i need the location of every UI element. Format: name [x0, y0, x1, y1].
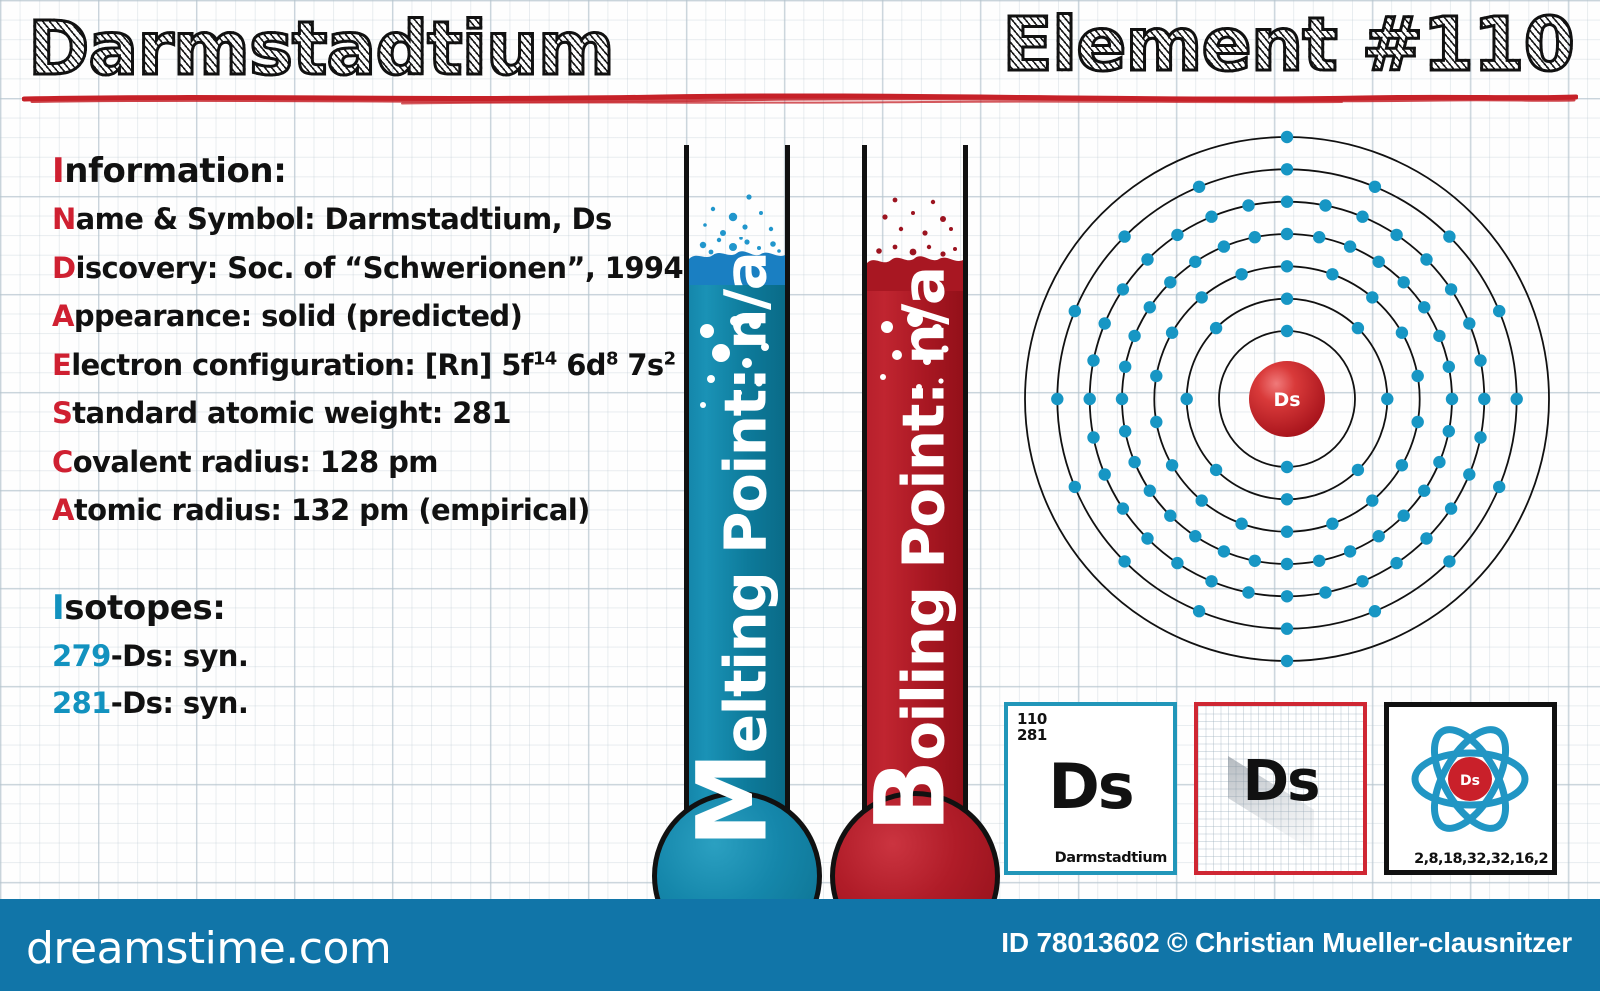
- electron: [1433, 330, 1445, 342]
- info-cap: A: [52, 493, 74, 527]
- electron: [1069, 481, 1081, 493]
- electron: [1326, 518, 1338, 530]
- info-line-atomic-weight: Standard atomic weight: 281: [52, 389, 692, 438]
- electron: [1128, 456, 1140, 468]
- information-heading-cap: I: [52, 151, 64, 191]
- isotope-mass-number: 279: [52, 639, 111, 673]
- electron: [1281, 655, 1293, 667]
- electron: [1352, 322, 1364, 334]
- electron: [1396, 459, 1408, 471]
- info-cap: A: [52, 299, 74, 333]
- electron: [1218, 240, 1230, 252]
- electron: [1420, 532, 1432, 544]
- electron: [1344, 240, 1356, 252]
- electron: [1281, 590, 1293, 602]
- info-line-name-symbol: Name & Symbol: Darmstadtium, Ds: [52, 195, 692, 244]
- atom-symbol-box[interactable]: Ds 2,8,18,32,32,16,2: [1384, 702, 1557, 875]
- info-cap: S: [52, 396, 72, 430]
- electron: [1474, 431, 1486, 443]
- nucleus-label: Ds: [1273, 389, 1300, 411]
- electron: [1128, 330, 1140, 342]
- electron: [1117, 283, 1129, 295]
- electron: [1119, 361, 1131, 373]
- electron: [1116, 393, 1128, 405]
- info-line-discovery: Discovery: Soc. of “Schwerionen”, 1994: [52, 244, 692, 293]
- isotopes-heading-rest: sotopes:: [64, 588, 225, 628]
- electron-config-sup-5f: 14: [533, 348, 557, 369]
- info-text: tandard atomic weight: 281: [72, 396, 511, 430]
- information-block: Information: Name & Symbol: Darmstadtium…: [52, 148, 692, 535]
- electron: [1493, 305, 1505, 317]
- dreamstime-logo[interactable]: dreamstime.com: [26, 923, 391, 974]
- electron: [1313, 231, 1325, 243]
- image-credit: ID 78013602 © Christian Mueller-clausnit…: [1001, 927, 1572, 959]
- isotopes-block: Isotopes: 279-Ds: syn. 281-Ds: syn.: [52, 583, 572, 727]
- electron: [1084, 393, 1096, 405]
- infographic-page: Darmstadtium Element #110 Information: N…: [0, 0, 1600, 991]
- electron: [1181, 393, 1193, 405]
- electron: [1478, 393, 1490, 405]
- electron: [1281, 196, 1293, 208]
- shell-configuration-text: 2,8,18,32,32,16,2: [1389, 851, 1548, 867]
- electron: [1390, 557, 1402, 569]
- info-line-covalent-radius: Covalent radius: 128 pm: [52, 438, 692, 487]
- isotope-label: -Ds: syn.: [111, 639, 249, 673]
- element-card-name: Darmstadtium: [1008, 850, 1167, 866]
- electron: [1205, 211, 1217, 223]
- electron: [1443, 230, 1455, 242]
- info-cap: D: [52, 251, 75, 285]
- electron: [1193, 605, 1205, 617]
- electron: [1210, 322, 1222, 334]
- electron: [1205, 575, 1217, 587]
- element-number-title: Element #110: [1002, 8, 1574, 82]
- info-cap: E: [52, 348, 71, 382]
- electron: [1196, 494, 1208, 506]
- electron: [1118, 230, 1130, 242]
- electron: [1141, 532, 1153, 544]
- header: Darmstadtium Element #110: [0, 0, 1600, 118]
- electron: [1069, 305, 1081, 317]
- information-heading-rest: nformation:: [64, 151, 286, 191]
- electron-config-sup-7s: 2: [664, 348, 676, 369]
- electron: [1398, 276, 1410, 288]
- liquid-surface-splash: [689, 237, 785, 285]
- electron: [1390, 229, 1402, 241]
- info-text: ppearance: solid (predicted): [74, 299, 522, 333]
- electron-config-mid-6d: 6d: [557, 348, 606, 382]
- electron: [1381, 393, 1393, 405]
- electron: [1443, 361, 1455, 373]
- electron: [1412, 370, 1424, 382]
- atom-icon: Ds: [1389, 707, 1552, 870]
- electron: [1087, 431, 1099, 443]
- info-line-atomic-radius: Atomic radius: 132 pm (empirical): [52, 486, 692, 535]
- electron: [1474, 354, 1486, 366]
- electron: [1319, 586, 1331, 598]
- electron: [1412, 416, 1424, 428]
- electron: [1281, 260, 1293, 272]
- info-text: iscovery: Soc. of “Schwerionen”, 1994: [75, 251, 683, 285]
- electron: [1373, 256, 1385, 268]
- long-shadow-symbol-box[interactable]: Ds: [1194, 702, 1367, 875]
- electron: [1281, 131, 1293, 143]
- electron: [1443, 425, 1455, 437]
- electron: [1344, 545, 1356, 557]
- electron: [1189, 530, 1201, 542]
- thermometer-liquid: [867, 283, 963, 845]
- thermometer-liquid: [689, 283, 785, 845]
- electron: [1511, 393, 1523, 405]
- electron: [1193, 181, 1205, 193]
- isotope-label: -Ds: syn.: [111, 686, 249, 720]
- electron-config-mid-7s: 7s: [618, 348, 664, 382]
- electron: [1433, 456, 1445, 468]
- electron: [1281, 325, 1293, 337]
- page-title: Darmstadtium: [28, 12, 614, 86]
- isotopes-heading-cap: I: [52, 588, 64, 628]
- info-text: ovalent radius: 128 pm: [73, 445, 438, 479]
- isotope-mass-number: 281: [52, 686, 111, 720]
- atom-nucleus-label: Ds: [1460, 773, 1480, 789]
- electron: [1171, 557, 1183, 569]
- electron: [1141, 253, 1153, 265]
- electron: [1144, 301, 1156, 313]
- liquid-spray-droplets: [867, 195, 963, 249]
- electron: [1249, 231, 1261, 243]
- isotopes-heading: Isotopes:: [52, 583, 572, 633]
- element-card-symbol: Ds: [1008, 756, 1173, 818]
- electron: [1164, 510, 1176, 522]
- electron: [1281, 293, 1293, 305]
- info-text: ame & Symbol: Darmstadtium, Ds: [76, 202, 612, 236]
- electron: [1210, 464, 1222, 476]
- electron: [1051, 393, 1063, 405]
- liquid-bubbles: [689, 283, 785, 845]
- electron: [1418, 485, 1430, 497]
- electron: [1196, 291, 1208, 303]
- liquid-surface-splash: [867, 243, 963, 291]
- footer: dreamstime.com ID 78013602 © Christian M…: [0, 899, 1600, 991]
- electron: [1087, 354, 1099, 366]
- electron: [1352, 464, 1364, 476]
- electron: [1166, 327, 1178, 339]
- electron: [1117, 502, 1129, 514]
- liquid-bubbles: [867, 283, 963, 845]
- electron: [1366, 291, 1378, 303]
- electron: [1446, 393, 1458, 405]
- electron: [1119, 425, 1131, 437]
- electron: [1235, 518, 1247, 530]
- electron: [1373, 530, 1385, 542]
- electron: [1235, 268, 1247, 280]
- electron: [1281, 163, 1293, 175]
- electron: [1463, 317, 1475, 329]
- electron: [1356, 211, 1368, 223]
- electron: [1249, 555, 1261, 567]
- red-underline-stroke: [22, 92, 1578, 105]
- electron: [1166, 459, 1178, 471]
- electron: [1144, 485, 1156, 497]
- electron: [1281, 461, 1293, 473]
- electron-config-sup-6d: 8: [606, 348, 618, 369]
- info-cap: C: [52, 445, 73, 479]
- info-line-appearance: Appearance: solid (predicted): [52, 292, 692, 341]
- electron: [1356, 575, 1368, 587]
- electron: [1281, 623, 1293, 635]
- electron: [1326, 268, 1338, 280]
- electron: [1418, 301, 1430, 313]
- electron: [1281, 228, 1293, 240]
- electron: [1099, 317, 1111, 329]
- bohr-model-diagram: Ds: [1016, 128, 1558, 670]
- electron: [1313, 555, 1325, 567]
- info-text: lectron configuration: [Rn] 5f: [71, 348, 533, 382]
- isotope-item: 279-Ds: syn.: [52, 633, 572, 680]
- electron: [1242, 586, 1254, 598]
- element-card-numbers: 110 281: [1017, 711, 1047, 743]
- info-line-electron-configuration: Electron configuration: [Rn] 5f14 6d8 7s…: [52, 341, 692, 390]
- electron: [1242, 199, 1254, 211]
- electron: [1463, 468, 1475, 480]
- electron: [1398, 510, 1410, 522]
- electron: [1150, 370, 1162, 382]
- info-text: tomic radius: 132 pm (empirical): [74, 493, 590, 527]
- electron: [1171, 229, 1183, 241]
- electron: [1150, 416, 1162, 428]
- electron: [1369, 181, 1381, 193]
- electron: [1493, 481, 1505, 493]
- electron: [1189, 256, 1201, 268]
- electron: [1396, 327, 1408, 339]
- electron: [1281, 558, 1293, 570]
- electron: [1281, 526, 1293, 538]
- electron: [1118, 555, 1130, 567]
- electron: [1443, 555, 1455, 567]
- electron: [1099, 468, 1111, 480]
- isotope-item: 281-Ds: syn.: [52, 680, 572, 727]
- info-cap: N: [52, 202, 76, 236]
- liquid-spray-droplets: [689, 191, 785, 243]
- element-card-box[interactable]: 110 281 Ds Darmstadtium: [1004, 702, 1177, 875]
- electron: [1445, 502, 1457, 514]
- electron: [1164, 276, 1176, 288]
- electron: [1369, 605, 1381, 617]
- electron: [1420, 253, 1432, 265]
- atomic-number: 110: [1017, 711, 1047, 727]
- information-heading: Information:: [52, 148, 692, 195]
- electron: [1281, 493, 1293, 505]
- electron: [1218, 545, 1230, 557]
- electron: [1319, 199, 1331, 211]
- long-shadow-symbol: Ds: [1198, 754, 1363, 810]
- electron: [1445, 283, 1457, 295]
- mass-number: 281: [1017, 727, 1047, 743]
- electron: [1366, 494, 1378, 506]
